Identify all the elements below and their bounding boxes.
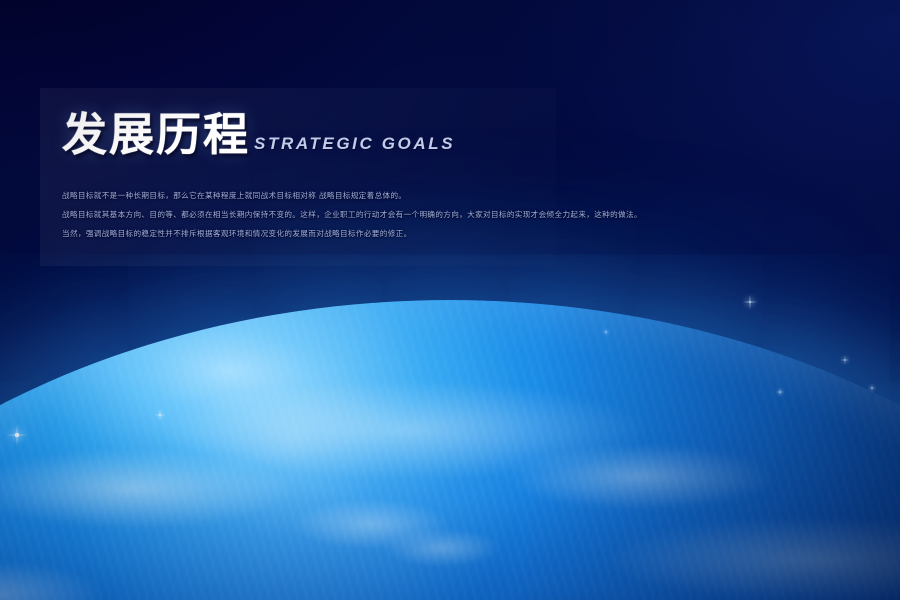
body-line: 战略目标就其基本方向、目的等、都必须在相当长期内保持不变的。这样，企业职工的行动… xyxy=(62,205,562,224)
banner-stage: 发展历程 STRATEGIC GOALS 战略目标就不是一种长期目标，那么它在某… xyxy=(0,0,900,600)
body-line: 战略目标就不是一种长期目标，那么它在某种程度上就同战术目标相对称 战略目标规定着… xyxy=(62,186,562,205)
page-title-cn: 发展历程 xyxy=(62,112,250,157)
space-glow-top-right xyxy=(0,0,900,600)
body-line: 当然，强调战略目标的稳定性并不排斥根据客观环境和情况变化的发展而对战略目标作必要… xyxy=(62,224,562,243)
body-paragraph: 战略目标就不是一种长期目标，那么它在某种程度上就同战术目标相对称 战略目标规定着… xyxy=(62,186,562,243)
page-title-en: STRATEGIC GOALS xyxy=(254,134,455,154)
headline-block: 发展历程 STRATEGIC GOALS xyxy=(62,112,582,157)
